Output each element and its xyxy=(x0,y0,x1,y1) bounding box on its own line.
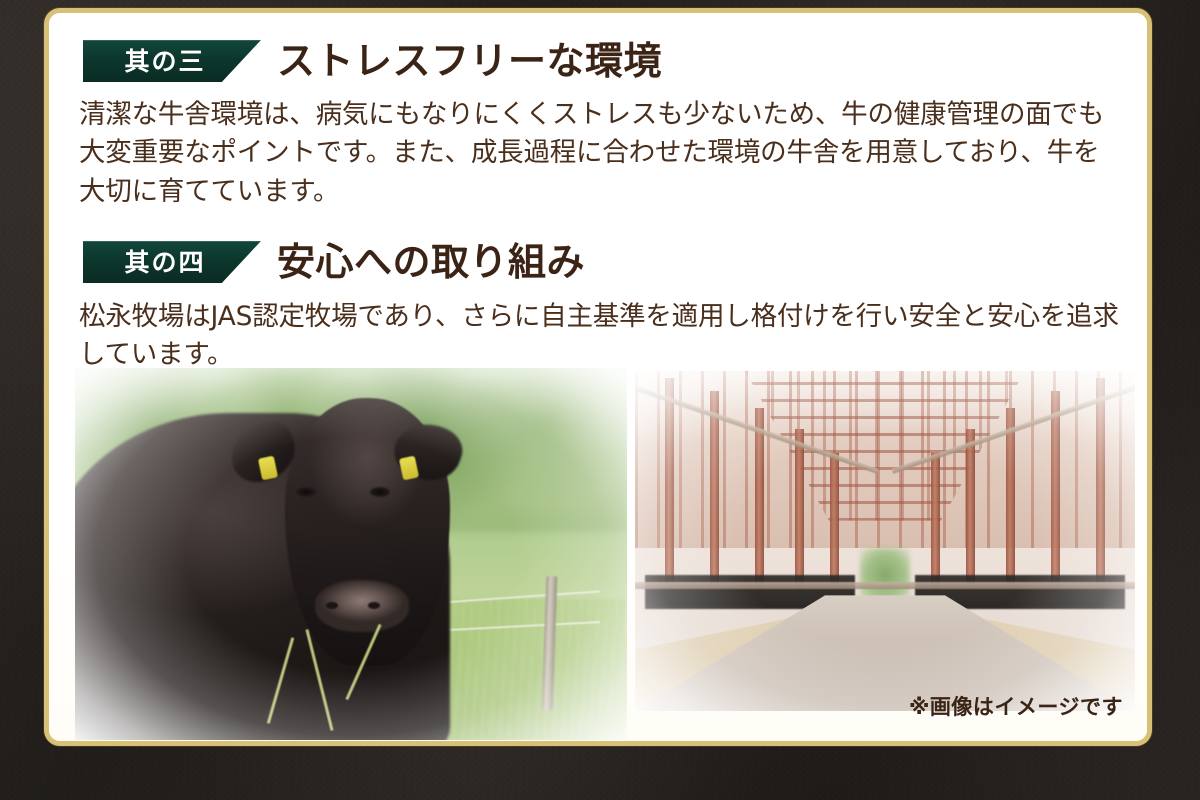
barn-column xyxy=(1096,378,1105,589)
barn-column xyxy=(665,378,674,589)
section-title-2: 安心への取り組み xyxy=(277,243,585,281)
section-heading-1: 其の三 ストレスフリーな環境 xyxy=(83,40,662,82)
barn-column xyxy=(830,453,839,589)
section-body-1: 清潔な牛舎環境は、病気にもなりにくくストレスも少ないため、牛の健康管理の面でも大… xyxy=(79,96,1123,211)
barn-column xyxy=(795,429,804,589)
barn-horizontal-rail xyxy=(635,582,1135,589)
barn-column xyxy=(931,453,940,589)
barn-photo-scene xyxy=(635,371,1135,711)
barn-column xyxy=(966,429,975,589)
cow-eye-left xyxy=(296,487,316,497)
section-title-1: ストレスフリーな環境 xyxy=(277,42,662,80)
barn-far-opening xyxy=(860,548,910,602)
section-badge-2: 其の四 xyxy=(83,241,261,283)
barn-photo xyxy=(635,371,1135,711)
section-heading-2: 其の四 安心への取り組み xyxy=(83,241,585,283)
cow-photo xyxy=(75,368,627,740)
barn-column xyxy=(1051,391,1060,588)
cow-photo-scene xyxy=(75,368,627,740)
page-background: 其の三 ストレスフリーな環境 清潔な牛舎環境は、病気にもなりにくくストレスも少な… xyxy=(0,0,1200,800)
content-panel: 其の三 ストレスフリーな環境 清潔な牛舎環境は、病気にもなりにくくストレスも少な… xyxy=(44,8,1152,746)
barn-column xyxy=(755,408,764,588)
barn-column xyxy=(1006,408,1015,588)
section-body-2: 松永牧場はJAS認定牧場であり、さらに自主基準を適用し格付けを行い安全と安心を追… xyxy=(79,298,1123,375)
panel-surface: 其の三 ストレスフリーな環境 清潔な牛舎環境は、病気にもなりにくくストレスも少な… xyxy=(49,13,1147,741)
image-disclaimer-caption: ※画像はイメージです xyxy=(909,691,1123,721)
section-badge-1: 其の三 xyxy=(83,40,261,82)
barn-column xyxy=(710,391,719,588)
